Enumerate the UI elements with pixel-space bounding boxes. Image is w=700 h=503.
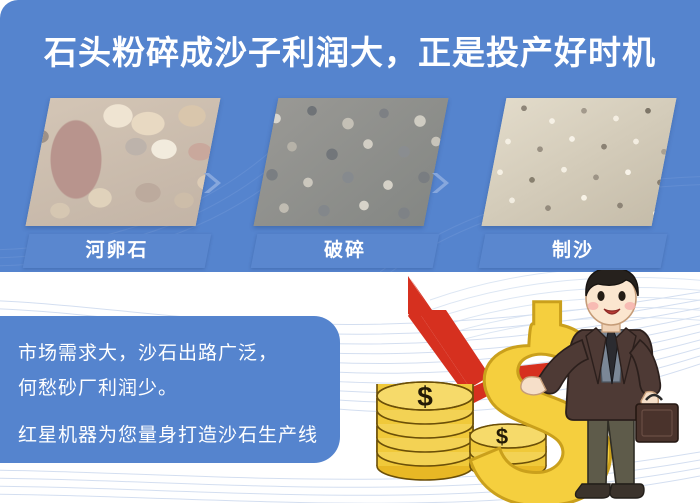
process-step-2-label-bar: 破碎 xyxy=(251,234,440,268)
process-step-1: 河卵石 xyxy=(30,98,214,272)
manufactured-sand-texture xyxy=(482,98,677,226)
svg-text:$: $ xyxy=(496,424,508,449)
crushed-gravel-texture xyxy=(254,98,449,226)
chevron-right-icon xyxy=(428,170,454,196)
svg-text:$: $ xyxy=(417,381,433,412)
process-step-1-label: 河卵石 xyxy=(26,234,208,268)
gold-coin-stack: $ xyxy=(377,381,473,480)
copy-line-1: 市场需求大，沙石出路广泛， xyxy=(18,338,278,365)
river-pebbles-photo xyxy=(26,98,221,226)
copy-line-3: 红星机器为您量身打造沙石生产线 xyxy=(18,420,318,447)
page-title: 石头粉碎成沙子利润大，正是投产好时机 xyxy=(0,26,700,74)
manufactured-sand-photo xyxy=(482,98,677,226)
process-step-1-label-bar: 河卵石 xyxy=(23,234,212,268)
process-step-2: 破碎 xyxy=(258,98,442,272)
process-step-3: 制沙 xyxy=(486,98,670,272)
marketing-copy-panel: 市场需求大，沙石出路广泛， 何愁砂厂利润少。 红星机器为您量身打造沙石生产线 xyxy=(0,316,340,463)
copy-line-2: 何愁砂厂利润少。 xyxy=(18,373,178,400)
hero-panel: 石头粉碎成沙子利润大，正是投产好时机 河卵石 破碎 xyxy=(0,0,700,272)
crushed-gravel-photo xyxy=(254,98,449,226)
illustration-group: $ $ xyxy=(350,270,700,503)
process-step-2-label: 破碎 xyxy=(254,234,436,268)
chevron-right-icon xyxy=(200,170,226,196)
process-step-3-label: 制沙 xyxy=(482,234,664,268)
promotional-banner: 石头粉碎成沙子利润大，正是投产好时机 河卵石 破碎 xyxy=(0,0,700,503)
process-step-3-label-bar: 制沙 xyxy=(479,234,668,268)
river-pebbles-texture xyxy=(26,98,221,226)
